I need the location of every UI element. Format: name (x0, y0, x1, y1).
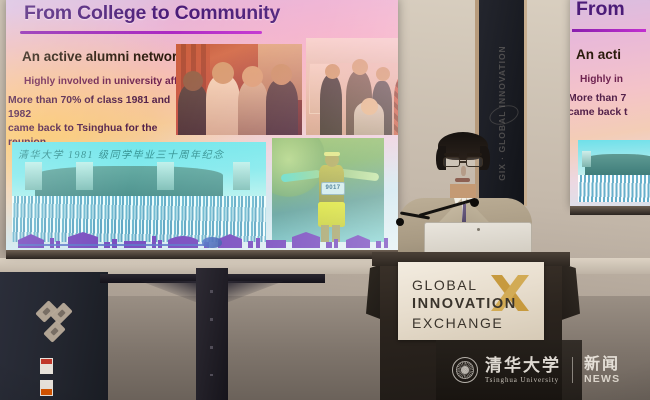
main-screen-bottom-edge (6, 250, 398, 259)
watermark-university-block: 清华大学 Tsinghua University (485, 357, 561, 384)
secondary-title-underline (572, 29, 646, 32)
watermark-news-cn: 新闻 (584, 356, 620, 373)
secondary-slide-subheading: An acti (576, 47, 621, 62)
watermark-news-en: NEWS (584, 373, 620, 385)
runner-bib-number: 9017 (321, 182, 345, 196)
slide-footer-rule (18, 244, 204, 246)
secondary-screen-bottom-edge (570, 206, 650, 215)
door-sticker (40, 380, 53, 396)
gix-sign-text: GLOBAL INNOVATION EXCHANGE (412, 276, 517, 333)
watermark-divider (572, 357, 573, 383)
slide-title: From College to Community (24, 2, 280, 25)
screenshot-root: From College to Community An active alum… (0, 0, 650, 400)
gix-line-2: INNOVATION (412, 295, 517, 314)
glass-entry-door (0, 272, 108, 400)
alumni-group-photo (306, 38, 398, 135)
tsinghua-news-watermark: 清华大学 Tsinghua University 新闻 NEWS (452, 348, 648, 392)
gix-line-1: GLOBAL (412, 276, 517, 295)
tsinghua-seal-icon (452, 357, 478, 383)
slide-title-underline (20, 31, 262, 34)
diamond-plaque-icon (43, 320, 66, 343)
secondary-projection-screen: From An acti Highly in More than 7 came … (570, 0, 650, 206)
marathon-runner-photo: 9017 (272, 138, 384, 242)
secondary-body-line-3: came back t (570, 106, 628, 120)
eyeglasses-icon (466, 157, 483, 167)
secondary-slide-title: From (576, 0, 625, 21)
gix-podium-sign: GLOBAL INNOVATION EXCHANGE (398, 262, 544, 340)
slide-footer-logo-icon (202, 237, 222, 248)
gix-line-3: EXCHANGE (412, 314, 517, 333)
microphone-head-icon (396, 218, 404, 226)
watermark-university-cn: 清华大学 (485, 357, 561, 374)
secondary-body-line-2: More than 7 (570, 92, 628, 106)
main-projection-screen: From College to Community An active alum… (6, 0, 398, 252)
reunion-calligraphy: 清华大学 1981 级同学毕业三十周年纪念 (18, 146, 257, 164)
secondary-reunion-photo (578, 140, 650, 202)
slide-body-line-2: More than 70% of class 1981 and 1982 (8, 94, 183, 122)
slide-body-line-1: Highly involved in university affairs (24, 76, 196, 87)
eyeglasses-icon (443, 157, 460, 167)
secondary-body-block: More than 7 came back t (570, 92, 628, 120)
reunion-panorama-photo: 清华大学 1981 级同学毕业三十周年纪念 (12, 142, 266, 242)
door-sticker (40, 358, 53, 374)
watermark-news-block: 新闻 NEWS (584, 356, 620, 385)
slide-subheading: An active alumni network (22, 49, 185, 64)
screen-stand-column (196, 268, 228, 400)
microphone-head-icon (470, 198, 479, 207)
watermark-university-en: Tsinghua University (485, 376, 561, 384)
banquet-toast-photo (176, 44, 302, 135)
secondary-body-line-1: Highly in (580, 74, 623, 85)
